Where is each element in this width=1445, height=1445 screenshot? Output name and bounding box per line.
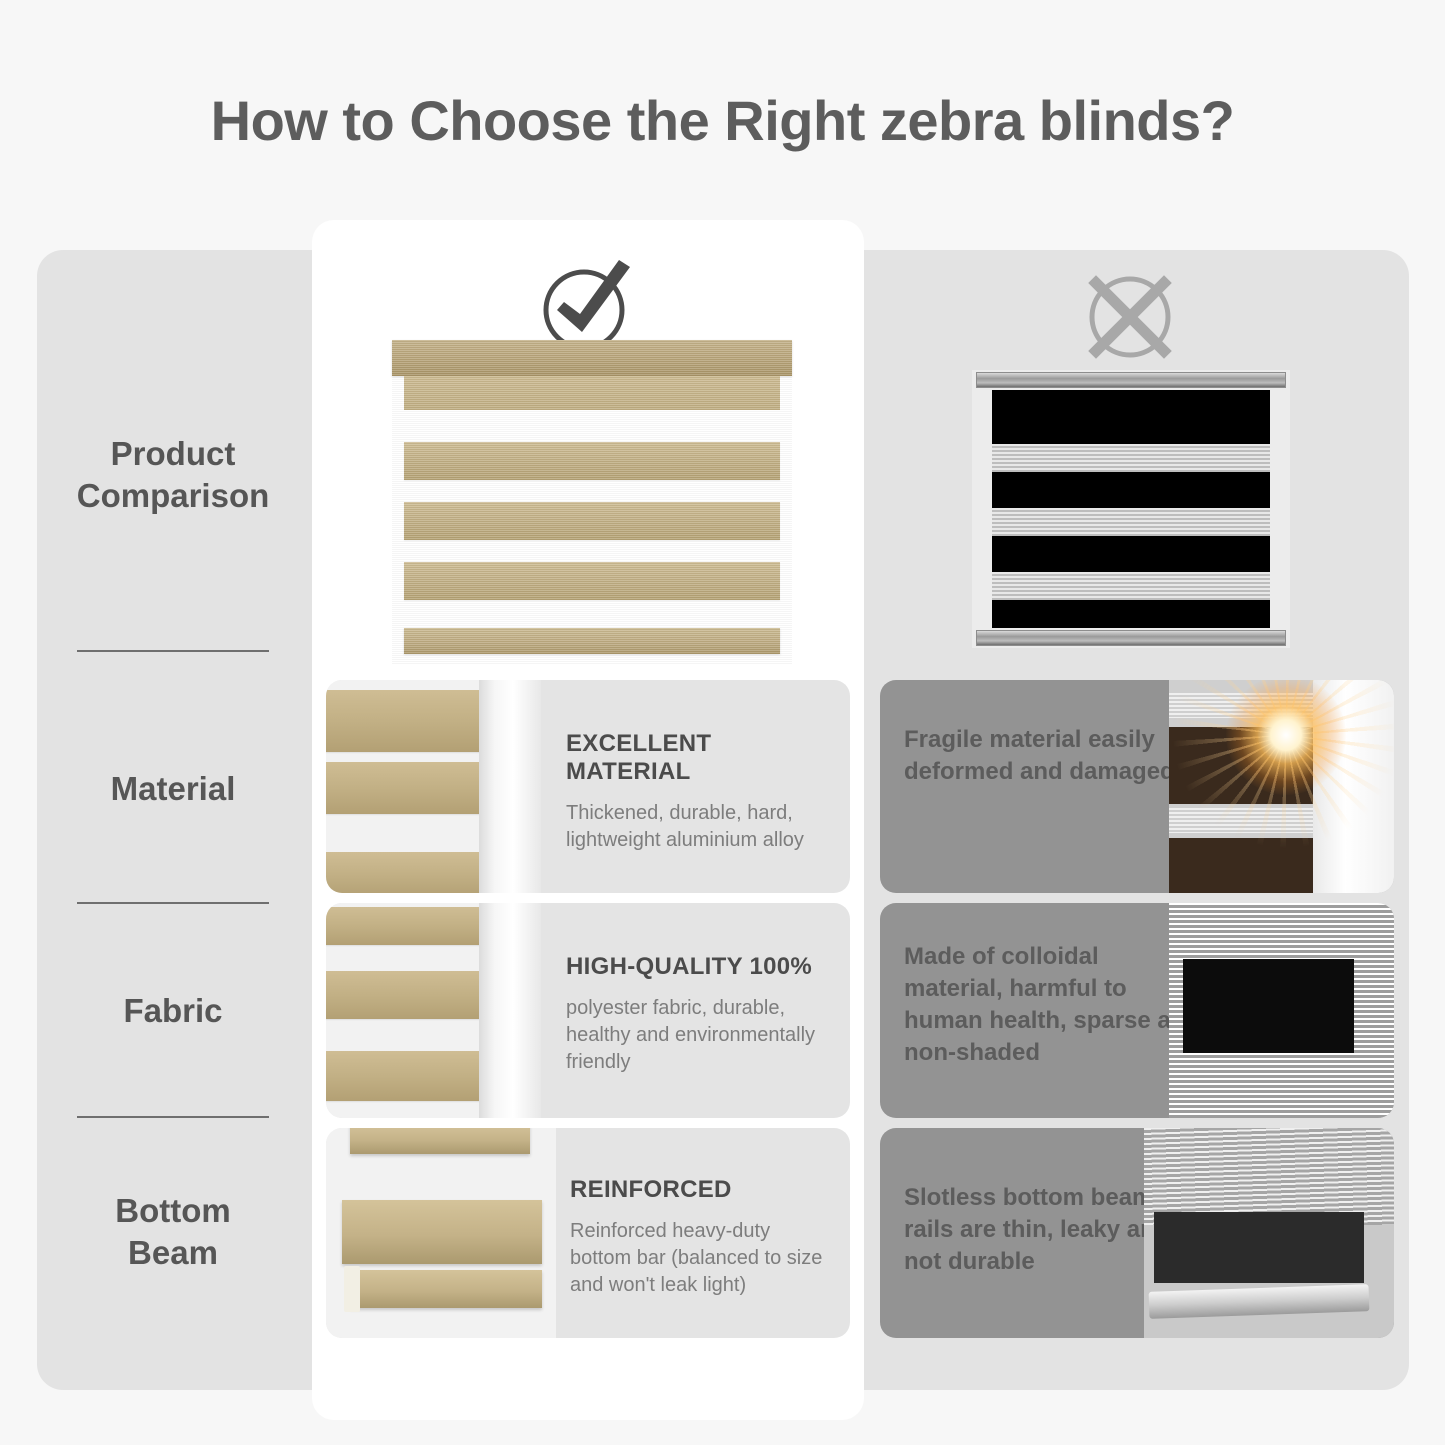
blind-bottom-bar [350, 1270, 542, 1308]
feature-body: Reinforced heavy-duty bottom bar (balanc… [570, 1218, 832, 1298]
feature-body: polyester fabric, durable, healthy and e… [566, 995, 832, 1075]
good-material-photo [326, 680, 541, 893]
blind-slat [350, 1128, 530, 1154]
good-fabric-text: HIGH-QUALITY 100% polyester fabric, dura… [566, 953, 832, 1075]
bad-fabric-photo [1169, 903, 1394, 1118]
blind-headrail [392, 340, 792, 376]
blind-bottom-rail [976, 630, 1286, 646]
good-bottom-beam-text: REINFORCED Reinforced heavy-duty bottom … [570, 1176, 832, 1298]
feature-heading: HIGH-QUALITY 100% [566, 953, 832, 981]
blind-sheer-stripe [992, 508, 1270, 536]
bad-feature-card-material: Fragile material easily deformed and dam… [880, 680, 1394, 893]
row-divider-2 [77, 902, 269, 904]
bad-feature-card-bottom-beam: Slotless bottom beam rails are thin, lea… [880, 1128, 1394, 1338]
blind-fabric-body [992, 390, 1270, 628]
row-label-product-comparison: Product Comparison [37, 433, 309, 517]
good-bottom-beam-photo [326, 1128, 556, 1338]
feature-heading: EXCELLENT MATERIAL [566, 730, 832, 786]
good-feature-card-material: EXCELLENT MATERIAL Thickened, durable, h… [326, 680, 850, 893]
page-title: How to Choose the Right zebra blinds? [0, 88, 1445, 153]
blind-slat [342, 1200, 542, 1264]
row-label-product-comparison-line2: Comparison [77, 477, 270, 514]
bad-bottom-beam-photo [1144, 1128, 1394, 1338]
row-divider-3 [77, 1116, 269, 1118]
row-label-column: Product Comparison Material Fabric Botto… [37, 250, 309, 1390]
bad-material-text: Fragile material easily deformed and dam… [904, 724, 1204, 788]
blind-bottom-rail [1149, 1284, 1370, 1319]
blind-sheer-stripe [1144, 1128, 1394, 1225]
blind-slat [404, 442, 780, 480]
thin-rail-scene [1144, 1128, 1394, 1338]
window-frame [479, 680, 541, 893]
row-label-bottom-beam-line2: Beam [128, 1234, 218, 1271]
black-blind-scene [1169, 903, 1394, 1118]
bad-material-photo [1169, 680, 1394, 893]
blind-bottom-bar [404, 628, 780, 654]
bad-hero-blind-image [972, 370, 1290, 648]
blind-sheer-stripe [992, 444, 1270, 472]
good-feature-card-fabric: HIGH-QUALITY 100% polyester fabric, dura… [326, 903, 850, 1118]
blind-dark-panel [1154, 1212, 1364, 1283]
blind-sheer-stripe [992, 572, 1270, 600]
sun-leak-scene [1169, 680, 1394, 893]
bottom-bar-end-cap [344, 1266, 360, 1312]
row-divider-1 [77, 650, 269, 652]
row-label-bottom-beam: Bottom Beam [37, 1190, 309, 1274]
window-frame [479, 903, 541, 1118]
sun-flare-icon [1226, 680, 1346, 795]
feature-heading: REINFORCED [570, 1176, 832, 1204]
feature-body: Thickened, durable, hard, lightweight al… [566, 800, 832, 854]
good-feature-card-bottom-beam: REINFORCED Reinforced heavy-duty bottom … [326, 1128, 850, 1338]
blind-slat [404, 502, 780, 540]
row-label-bottom-beam-line1: Bottom [115, 1192, 230, 1229]
row-label-fabric: Fabric [37, 990, 309, 1032]
bad-feature-card-fabric: Made of colloidal material, harmful to h… [880, 903, 1394, 1118]
good-hero-blind-image [392, 340, 792, 665]
good-material-text: EXCELLENT MATERIAL Thickened, durable, h… [566, 730, 832, 854]
row-label-product-comparison-line1: Product [111, 435, 236, 472]
blind-dark-panel [1183, 959, 1354, 1054]
good-fabric-photo [326, 903, 541, 1118]
row-label-material: Material [37, 768, 309, 810]
blind-slat [404, 562, 780, 600]
cross-circle-icon [1075, 262, 1185, 372]
blind-headrail [976, 372, 1286, 388]
bad-fabric-text: Made of colloidal material, harmful to h… [904, 941, 1204, 1070]
